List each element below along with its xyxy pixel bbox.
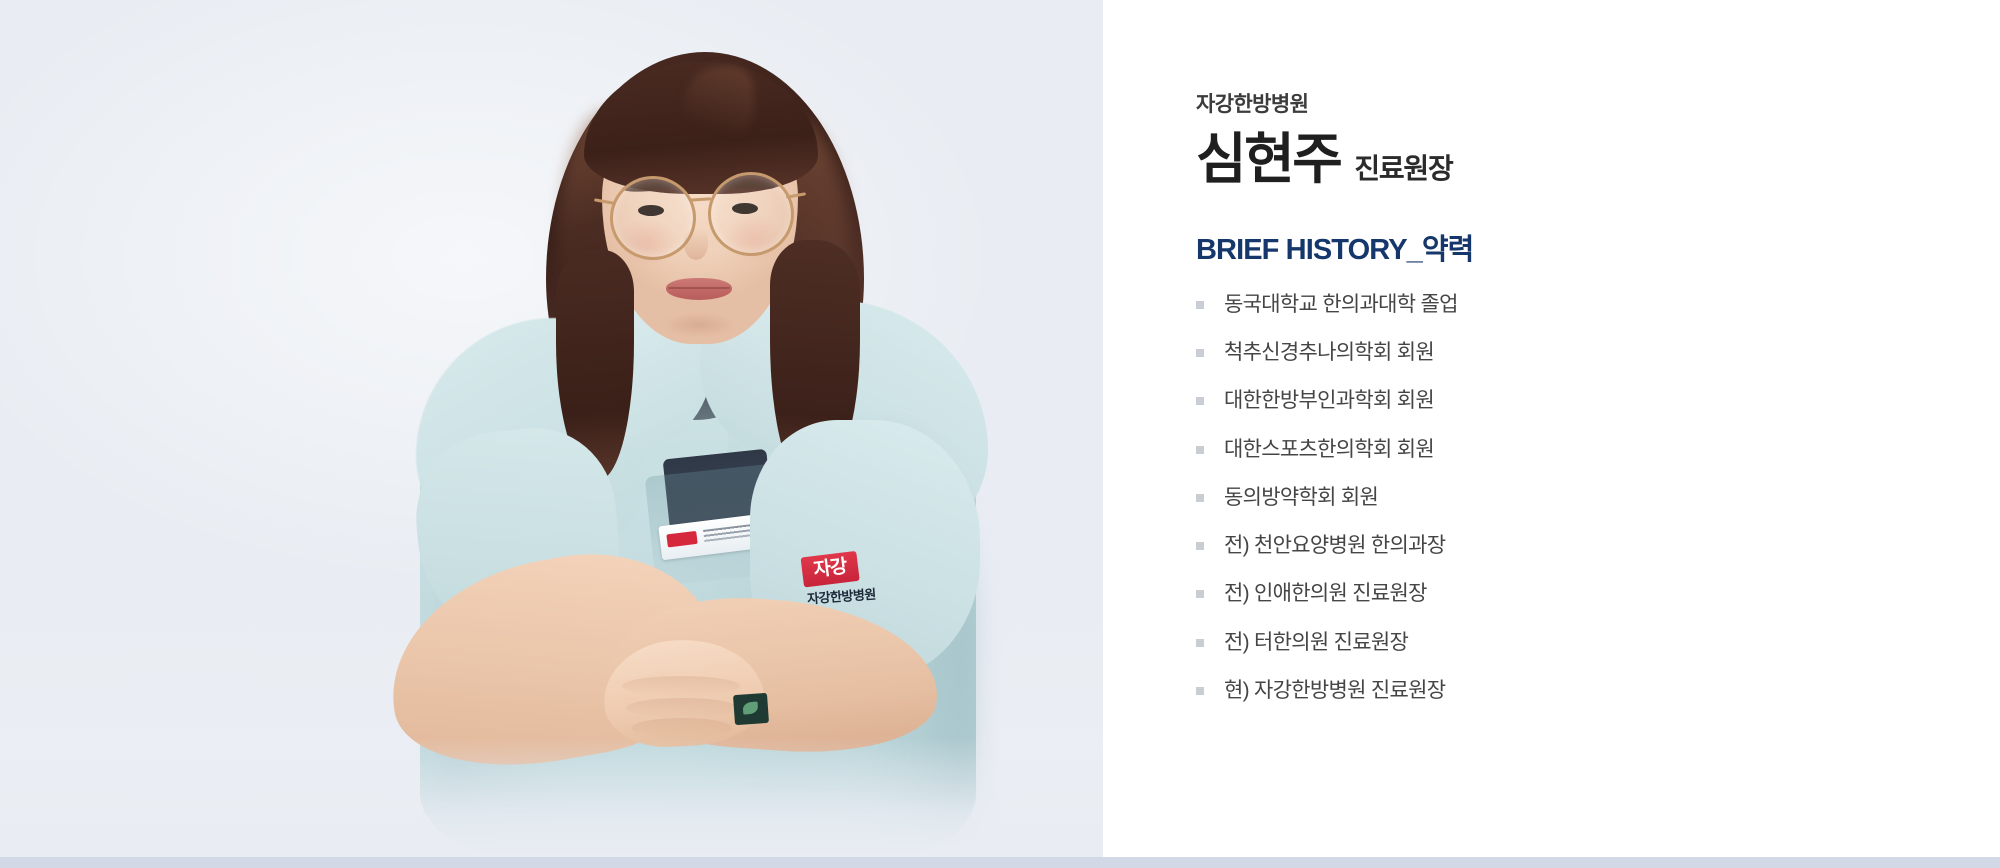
list-item-label: 동의방약학회 회원 (1224, 486, 1378, 509)
list-item-label: 대한스포츠한의학회 회원 (1224, 438, 1434, 461)
sleeve-hospital-patch: 자강 자강한방병원 (789, 547, 894, 636)
list-item: 동국대학교 한의과대학 졸업 (1196, 292, 1936, 318)
doctor-name-row: 심현주 진료원장 (1196, 131, 1936, 189)
info-content: 자강한방병원 심현주 진료원장 BRIEF HISTORY_약력 동국대학교 한… (1196, 92, 1936, 726)
finger-line-3 (632, 718, 732, 738)
square-bullet-icon (1196, 687, 1204, 695)
list-item: 현) 자강한방병원 진료원장 (1196, 678, 1936, 704)
doctor-photo-panel: 자강 자강한방병원 (0, 0, 1103, 857)
square-bullet-icon (1196, 639, 1204, 647)
list-item-label: 전) 터한의원 진료원장 (1224, 631, 1408, 654)
doctor-name: 심현주 (1196, 131, 1340, 189)
doctor-profile-page: 자강 자강한방병원 자강한방병원 심현주 진료원장 BRIEF HISTORY_… (0, 0, 2000, 868)
list-item: 전) 인애한의원 진료원장 (1196, 581, 1936, 607)
nose-shape (684, 228, 708, 260)
doctor-info-panel: 자강한방병원 심현주 진료원장 BRIEF HISTORY_약력 동국대학교 한… (1103, 0, 2000, 857)
lips-shape (666, 278, 732, 300)
glasses-lens-left (610, 176, 696, 260)
brief-history-heading: BRIEF HISTORY_약력 (1196, 233, 1936, 268)
doctor-portrait-image: 자강 자강한방병원 (398, 0, 998, 857)
brief-history-list: 동국대학교 한의과대학 졸업 척추신경추나의학회 회원 대한한방부인과학회 회원… (1196, 292, 1936, 704)
square-bullet-icon (1196, 494, 1204, 502)
doctor-title: 진료원장 (1354, 154, 1452, 185)
square-bullet-icon (1196, 349, 1204, 357)
list-item: 동의방약학회 회원 (1196, 485, 1936, 511)
square-bullet-icon (1196, 542, 1204, 550)
list-item: 전) 천안요양병원 한의과장 (1196, 533, 1936, 559)
list-item: 대한한방부인과학회 회원 (1196, 388, 1936, 414)
glasses-lens-right (708, 172, 794, 256)
list-item-label: 현) 자강한방병원 진료원장 (1224, 679, 1445, 702)
id-badge-text-lines (703, 524, 754, 543)
square-bullet-icon (1196, 590, 1204, 598)
square-bullet-icon (1196, 446, 1204, 454)
square-bullet-icon (1196, 301, 1204, 309)
bottom-accent-band (0, 857, 2000, 868)
list-item-label: 대한한방부인과학회 회원 (1224, 389, 1434, 412)
finger-line-2 (626, 698, 738, 718)
square-bullet-icon (1196, 397, 1204, 405)
patch-logo-mark: 자강 (801, 551, 860, 588)
list-item-label: 전) 천안요양병원 한의과장 (1224, 534, 1445, 557)
sleeve-brand-tag (733, 693, 769, 725)
list-item: 척추신경추나의학회 회원 (1196, 340, 1936, 366)
chin-shadow (660, 312, 738, 338)
id-badge-logo-mark (666, 531, 697, 548)
list-item-label: 동국대학교 한의과대학 졸업 (1224, 293, 1458, 316)
lips-line (668, 287, 730, 289)
list-item: 대한스포츠한의학회 회원 (1196, 437, 1936, 463)
list-item-label: 척추신경추나의학회 회원 (1224, 341, 1434, 364)
hair-part-shadow (684, 66, 754, 146)
list-item-label: 전) 인애한의원 진료원장 (1224, 582, 1427, 605)
hospital-name-label: 자강한방병원 (1196, 92, 1936, 117)
list-item: 전) 터한의원 진료원장 (1196, 630, 1936, 656)
finger-line-1 (622, 676, 740, 696)
